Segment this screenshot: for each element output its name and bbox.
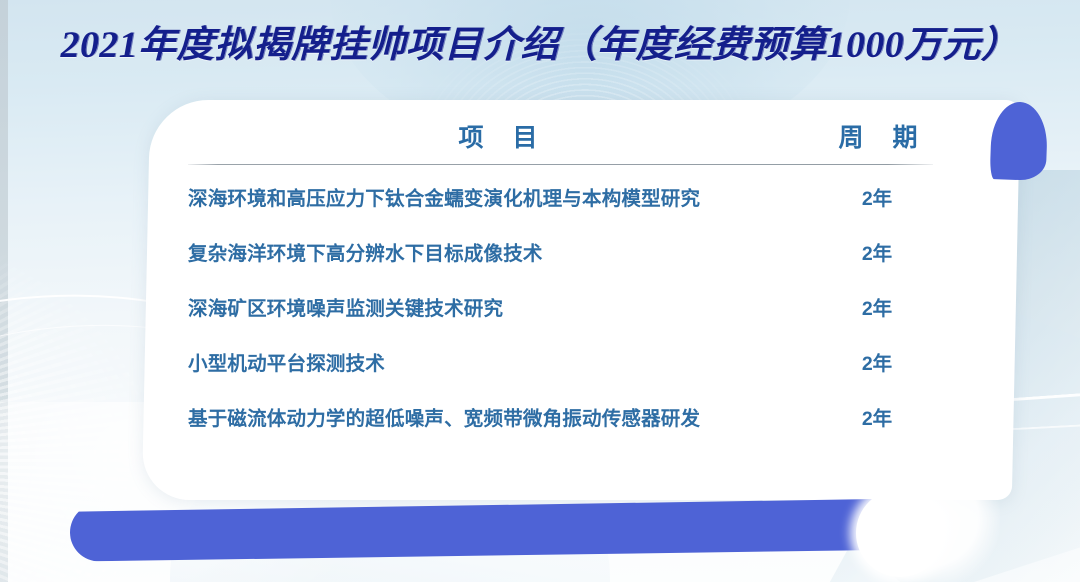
cell-project-name: 基于磁流体动力学的超低噪声、宽频带微角振动传感器研发	[188, 402, 828, 431]
cell-project-period: 2年	[828, 182, 948, 211]
slide-root: 2021年度拟揭牌挂帅项目介绍（年度经费预算1000万元） 项 目 周 期 深海…	[0, 0, 1080, 582]
left-edge-strip	[0, 0, 8, 582]
page-title: 2021年度拟揭牌挂帅项目介绍（年度经费预算1000万元）	[61, 14, 1019, 68]
table-row: 复杂海洋环境下高分辨水下目标成像技术 2年	[188, 224, 948, 279]
cell-project-period: 2年	[828, 237, 948, 266]
column-header-item: 项 目	[188, 118, 808, 154]
table-row: 基于磁流体动力学的超低噪声、宽频带微角振动传感器研发 2年	[188, 389, 948, 444]
table-header-row: 项 目 周 期	[188, 118, 948, 164]
projects-table: 项 目 周 期 深海环境和高压应力下钛合金蠕变演化机理与本构模型研究 2年 复杂…	[188, 118, 948, 444]
cell-project-period: 2年	[828, 402, 948, 431]
table-row: 深海矿区环境噪声监测关键技术研究 2年	[188, 279, 948, 334]
table-row: 深海环境和高压应力下钛合金蠕变演化机理与本构模型研究 2年	[188, 169, 948, 224]
bottom-bar-notch-glow	[880, 470, 1000, 582]
table-row: 小型机动平台探测技术 2年	[188, 334, 948, 389]
column-header-period: 周 期	[808, 118, 948, 154]
cell-project-name: 小型机动平台探测技术	[188, 347, 828, 376]
cell-project-name: 复杂海洋环境下高分辨水下目标成像技术	[188, 237, 828, 266]
cell-project-name: 深海环境和高压应力下钛合金蠕变演化机理与本构模型研究	[188, 182, 828, 211]
cell-project-period: 2年	[828, 347, 948, 376]
header-divider	[188, 164, 933, 165]
title-container: 2021年度拟揭牌挂帅项目介绍（年度经费预算1000万元）	[0, 14, 1080, 68]
bottom-accent-bar	[70, 498, 915, 561]
cell-project-name: 深海矿区环境噪声监测关键技术研究	[188, 292, 828, 321]
cell-project-period: 2年	[828, 292, 948, 321]
